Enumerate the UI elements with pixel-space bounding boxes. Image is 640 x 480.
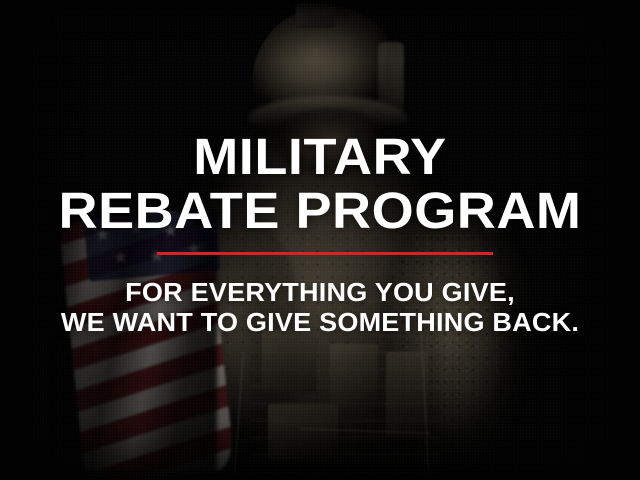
military-rebate-banner: ★ ★ ★ ★ ★ ★ MILITARY REBATE PROGRAM FOR … — [0, 0, 640, 480]
headline-line-2: REBATE PROGRAM — [0, 186, 640, 236]
subheadline-line-1: FOR EVERYTHING YOU GIVE, — [0, 279, 640, 305]
red-divider-rule — [157, 252, 493, 255]
subheadline-line-2: WE WANT TO GIVE SOMETHING BACK. — [0, 309, 640, 335]
headline-line-1: MILITARY — [0, 132, 640, 182]
banner-copy: MILITARY REBATE PROGRAM FOR EVERYTHING Y… — [0, 0, 640, 480]
